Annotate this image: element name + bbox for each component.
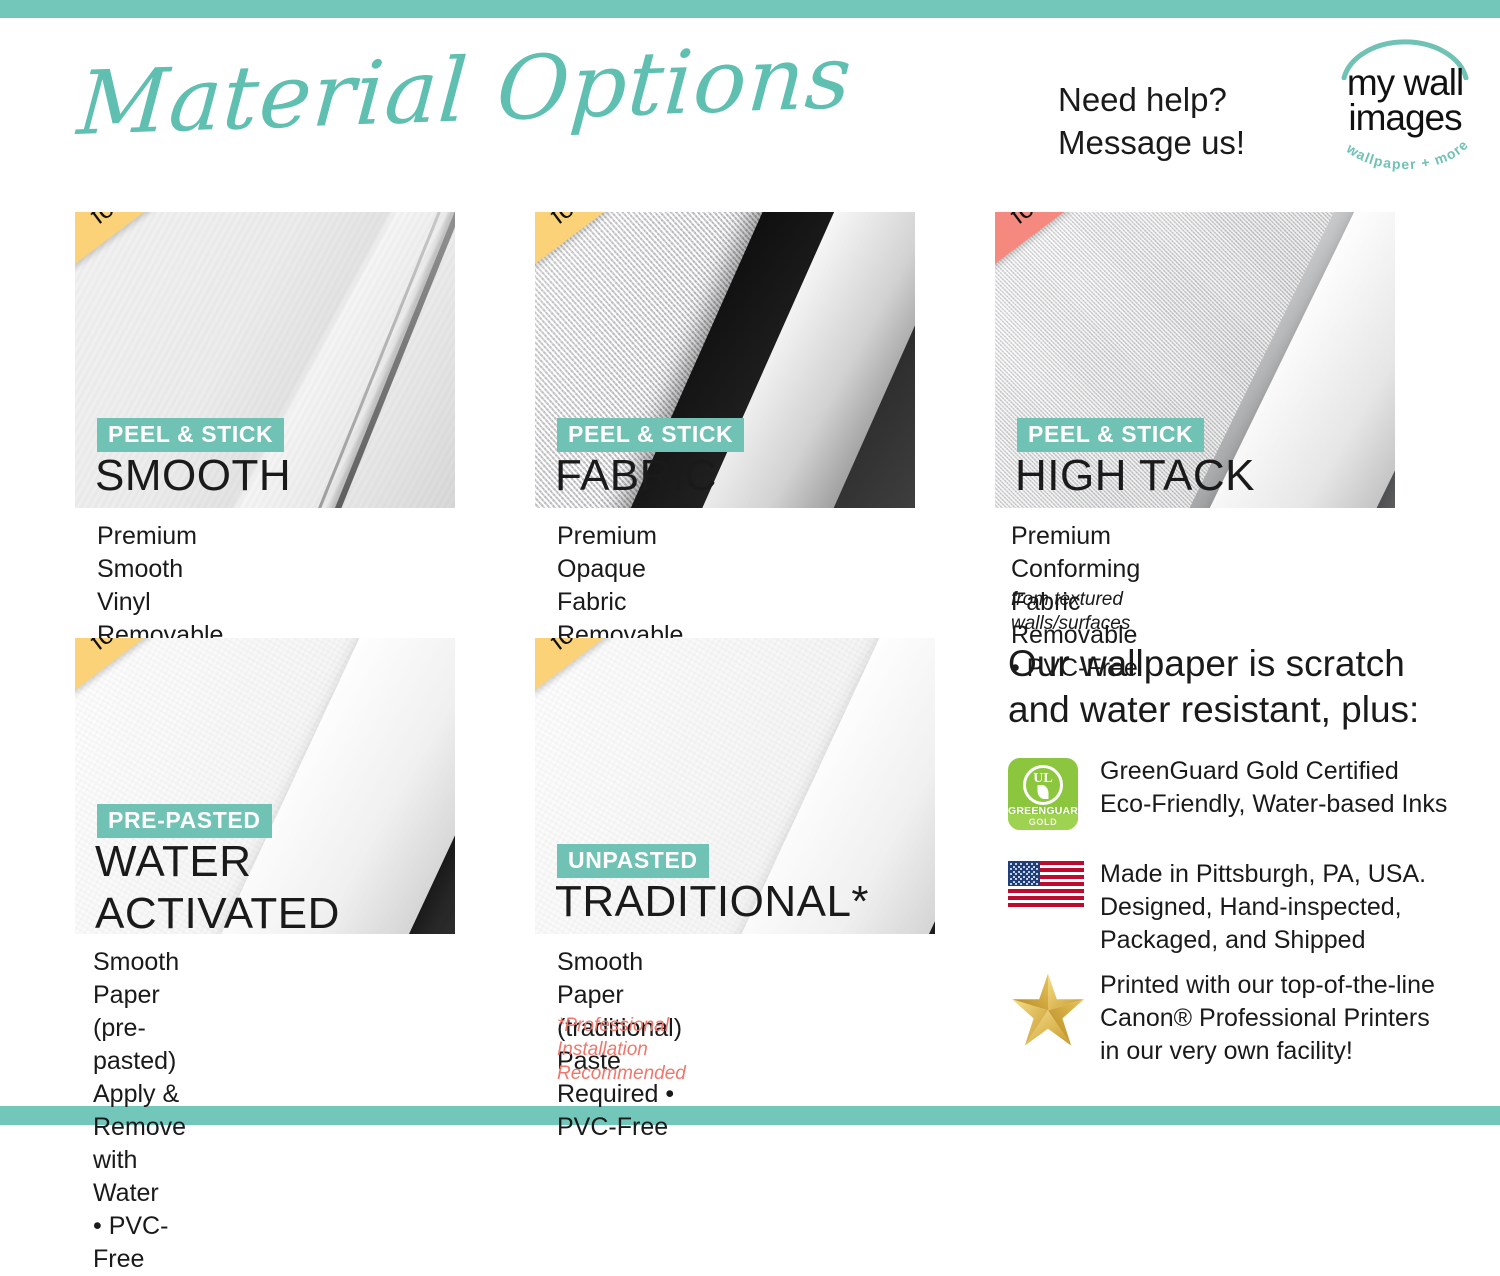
feature-text: Made in Pittsburgh, PA, USA. Designed, H… [1100, 858, 1490, 957]
card-note: *Professional Installation Recommended [557, 1014, 686, 1086]
brand-logo: my wall images wallpaper + more [1330, 34, 1480, 179]
gold-star-icon [1008, 972, 1088, 1048]
us-flag-icon [1008, 861, 1084, 907]
card-badge: UNPASTED [557, 844, 709, 878]
need-help-line1: Need help? [1058, 78, 1245, 121]
card-photo-smooth: for Smooth Walls PEEL & STICK SMOOTH [75, 212, 455, 508]
card-title: FABRIC [555, 450, 717, 502]
need-help-text: Need help? Message us! [1058, 78, 1245, 164]
card-note: from textured walls/surfaces [1011, 588, 1130, 636]
card-badge: PEEL & STICK [1017, 418, 1204, 452]
greenguard-gold-icon: UL GREENGUARD GOLD [1008, 758, 1078, 830]
material-options-infographic: Material Options Need help? Message us! … [0, 0, 1500, 1125]
svg-text:wallpaper + more: wallpaper + more [1343, 138, 1472, 172]
need-help-line2: Message us! [1058, 121, 1245, 164]
card-photo-water-activated: for Smooth Walls PRE-PASTED WATER ACTIVA… [75, 638, 455, 934]
card-badge: PEEL & STICK [97, 418, 284, 452]
card-badge: PRE-PASTED [97, 804, 272, 838]
card-photo-fabric: for Smooth Walls PEEL & STICK FABRIC [535, 212, 915, 508]
top-accent-bar [0, 0, 1500, 18]
card-title: SMOOTH [95, 450, 291, 502]
card-photo-traditional: for Smooth Walls UNPASTED TRADITIONAL* [535, 638, 935, 934]
card-description: Smooth Paper (pre-pasted) Apply & Remove… [93, 946, 186, 1276]
logo-line2: images [1330, 97, 1480, 139]
card-title: TRADITIONAL* [555, 876, 869, 928]
bottom-accent-bar [0, 1106, 1500, 1125]
features-heading: Our wallpaper is scratch and water resis… [1008, 641, 1468, 733]
logo-tagline: wallpaper + more [1330, 138, 1480, 178]
feature-text: GreenGuard Gold Certified Eco-Friendly, … [1100, 755, 1490, 821]
greenguard-tier: GOLD [1008, 817, 1078, 827]
card-title: WATER ACTIVATED [95, 836, 415, 934]
card-title: HIGH TACK [1015, 450, 1255, 502]
card-photo-high-tack: for Textured Walls PEEL & STICK HIGH TAC… [995, 212, 1395, 508]
page-title: Material Options [74, 25, 855, 155]
feature-text: Printed with our top-of-the-line Canon® … [1100, 969, 1490, 1068]
card-badge: PEEL & STICK [557, 418, 744, 452]
